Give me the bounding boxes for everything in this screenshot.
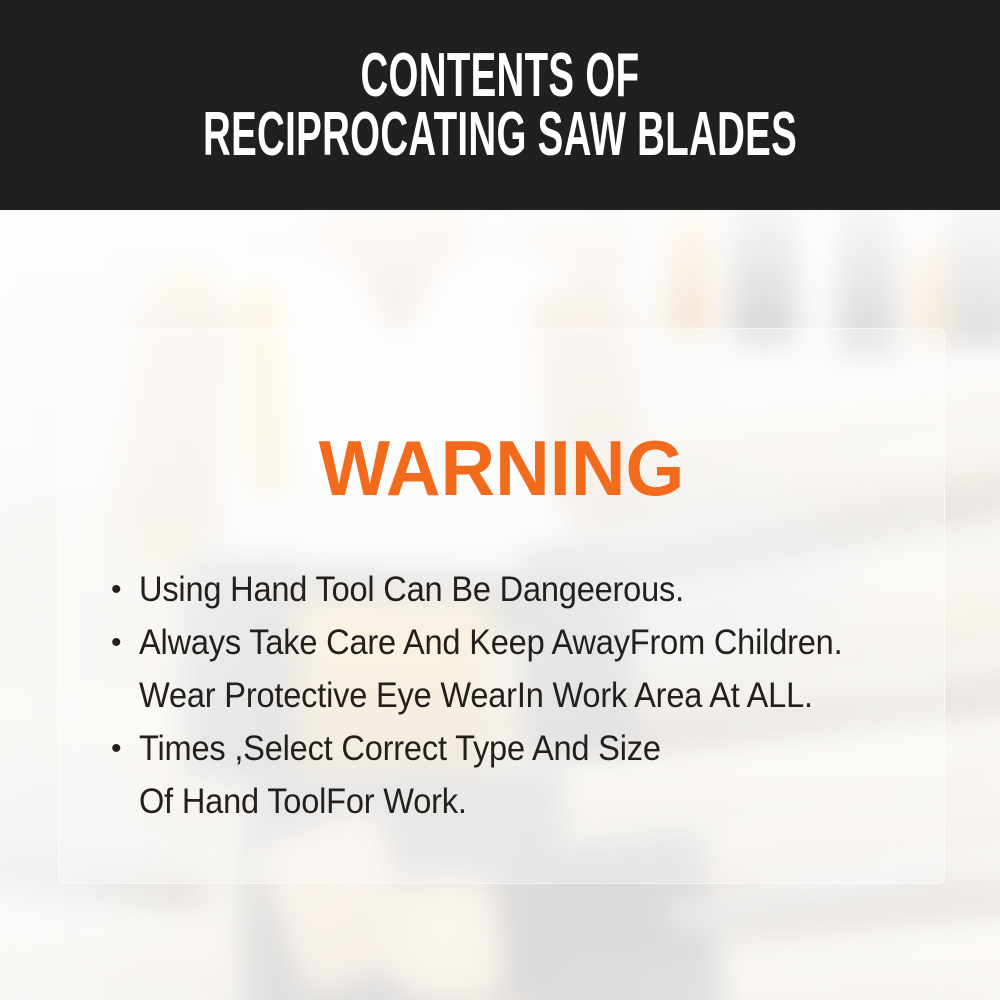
- warning-bullet-list: • Using Hand Tool Can Be Dangeerous. • A…: [111, 563, 941, 828]
- bullet-point-icon: •: [111, 616, 139, 669]
- header-title-line-1: CONTENTS OF: [361, 47, 640, 104]
- warning-panel: WARNING • Using Hand Tool Can Be Dangeer…: [58, 328, 945, 884]
- warning-continuation-line: • Wear Protective Eye WearIn Work Area A…: [111, 669, 941, 722]
- header-title-line-2: RECIPROCATING SAW BLADES: [203, 106, 797, 163]
- product-banner: CONTENTS OF RECIPROCATING SAW BLADES WAR…: [0, 0, 1000, 1000]
- warning-line-text: Of Hand ToolFor Work.: [139, 775, 467, 828]
- warning-line-text: Always Take Care And Keep AwayFrom Child…: [139, 616, 842, 669]
- warning-line-text: Wear Protective Eye WearIn Work Area At …: [139, 669, 813, 722]
- warning-continuation-line: • Of Hand ToolFor Work.: [111, 775, 941, 828]
- warning-bullet-item: • Using Hand Tool Can Be Dangeerous.: [111, 563, 941, 616]
- warning-bullet-item: • Times ,Select Correct Type And Size: [111, 722, 941, 775]
- warning-heading: WARNING: [72, 429, 930, 507]
- banner-header: CONTENTS OF RECIPROCATING SAW BLADES: [0, 0, 1000, 210]
- bullet-point-icon: •: [111, 722, 139, 775]
- warning-line-text: Times ,Select Correct Type And Size: [139, 722, 661, 775]
- warning-line-text: Using Hand Tool Can Be Dangeerous.: [139, 563, 684, 616]
- warning-bullet-item: • Always Take Care And Keep AwayFrom Chi…: [111, 616, 941, 669]
- bullet-point-icon: •: [111, 563, 139, 616]
